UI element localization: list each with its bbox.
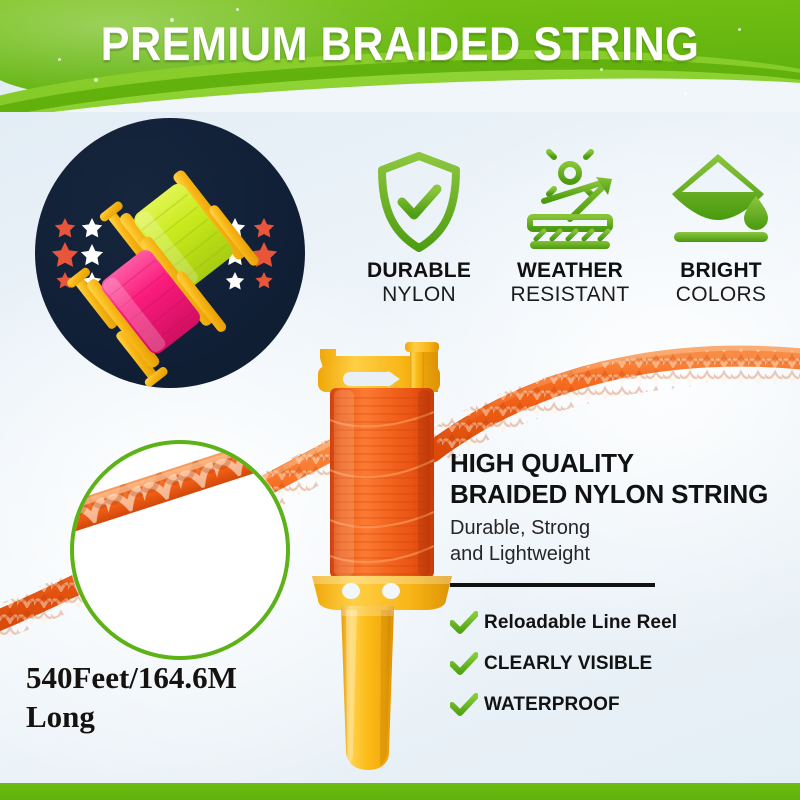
feature-bright-colors: BRIGHT COLORS [647,146,795,307]
paint-bucket-droplet-icon [668,146,774,258]
copy-heading-line1: HIGH QUALITY [450,448,790,479]
product-variants-badge [35,118,305,388]
feature-label-line1: DURABLE [367,260,471,283]
bullet-item: CLEARLY VISIBLE [450,644,790,685]
header-banner: PREMIUM BRAIDED STRING [0,0,800,112]
feature-label-line1: BRIGHT [680,260,762,283]
bullet-label: WATERPROOF [484,694,620,716]
feature-bullet-list: Reloadable Line Reel CLEARLY VISIBLE WAT… [450,603,790,726]
product-copy-block: HIGH QUALITY BRAIDED NYLON STRING Durabl… [450,448,790,726]
copy-divider [450,583,655,587]
feature-durable-nylon: DURABLE NYLON [345,146,493,307]
feature-label-line2: COLORS [676,283,767,308]
badge-contents [35,118,305,388]
bullet-item: WATERPROOF [450,685,790,726]
check-icon [450,693,484,717]
length-callout: 540Feet/164.6M Long [26,658,356,736]
bullet-label: Reloadable Line Reel [484,612,677,634]
sparkle-dot [236,8,239,11]
rope-detail-magnifier [70,440,290,660]
footer-bar [0,783,800,800]
check-icon [450,611,484,635]
product-infographic: PREMIUM BRAIDED STRING [0,0,800,800]
bullet-label: CLEARLY VISIBLE [484,653,652,675]
copy-heading-line2: BRAIDED NYLON STRING [450,479,790,510]
copy-sub-line2: and Lightweight [450,542,790,567]
magnified-rope [70,440,290,551]
page-title: PREMIUM BRAIDED STRING [32,16,768,71]
feature-label-line2: RESISTANT [511,283,630,308]
feature-weather-resistant: WEATHER RESISTANT [496,146,644,307]
feature-icons-row: DURABLE NYLON [345,146,795,336]
sparkle-dot [94,78,98,82]
bullet-item: Reloadable Line Reel [450,603,790,644]
shield-check-icon [373,146,465,258]
feature-label-line2: NYLON [382,283,456,308]
spool-bottom-plate [312,576,452,610]
check-icon [450,652,484,676]
length-line2: Long [26,697,356,736]
wound-string-barrel [330,388,434,578]
sun-weather-resistant-icon [512,146,628,258]
feature-label-line1: WEATHER [517,260,623,283]
sparkle-dot [684,92,687,95]
copy-sub-line1: Durable, Strong [450,516,790,541]
length-line1: 540Feet/164.6M [26,658,356,697]
spool-top-plate [318,342,440,394]
